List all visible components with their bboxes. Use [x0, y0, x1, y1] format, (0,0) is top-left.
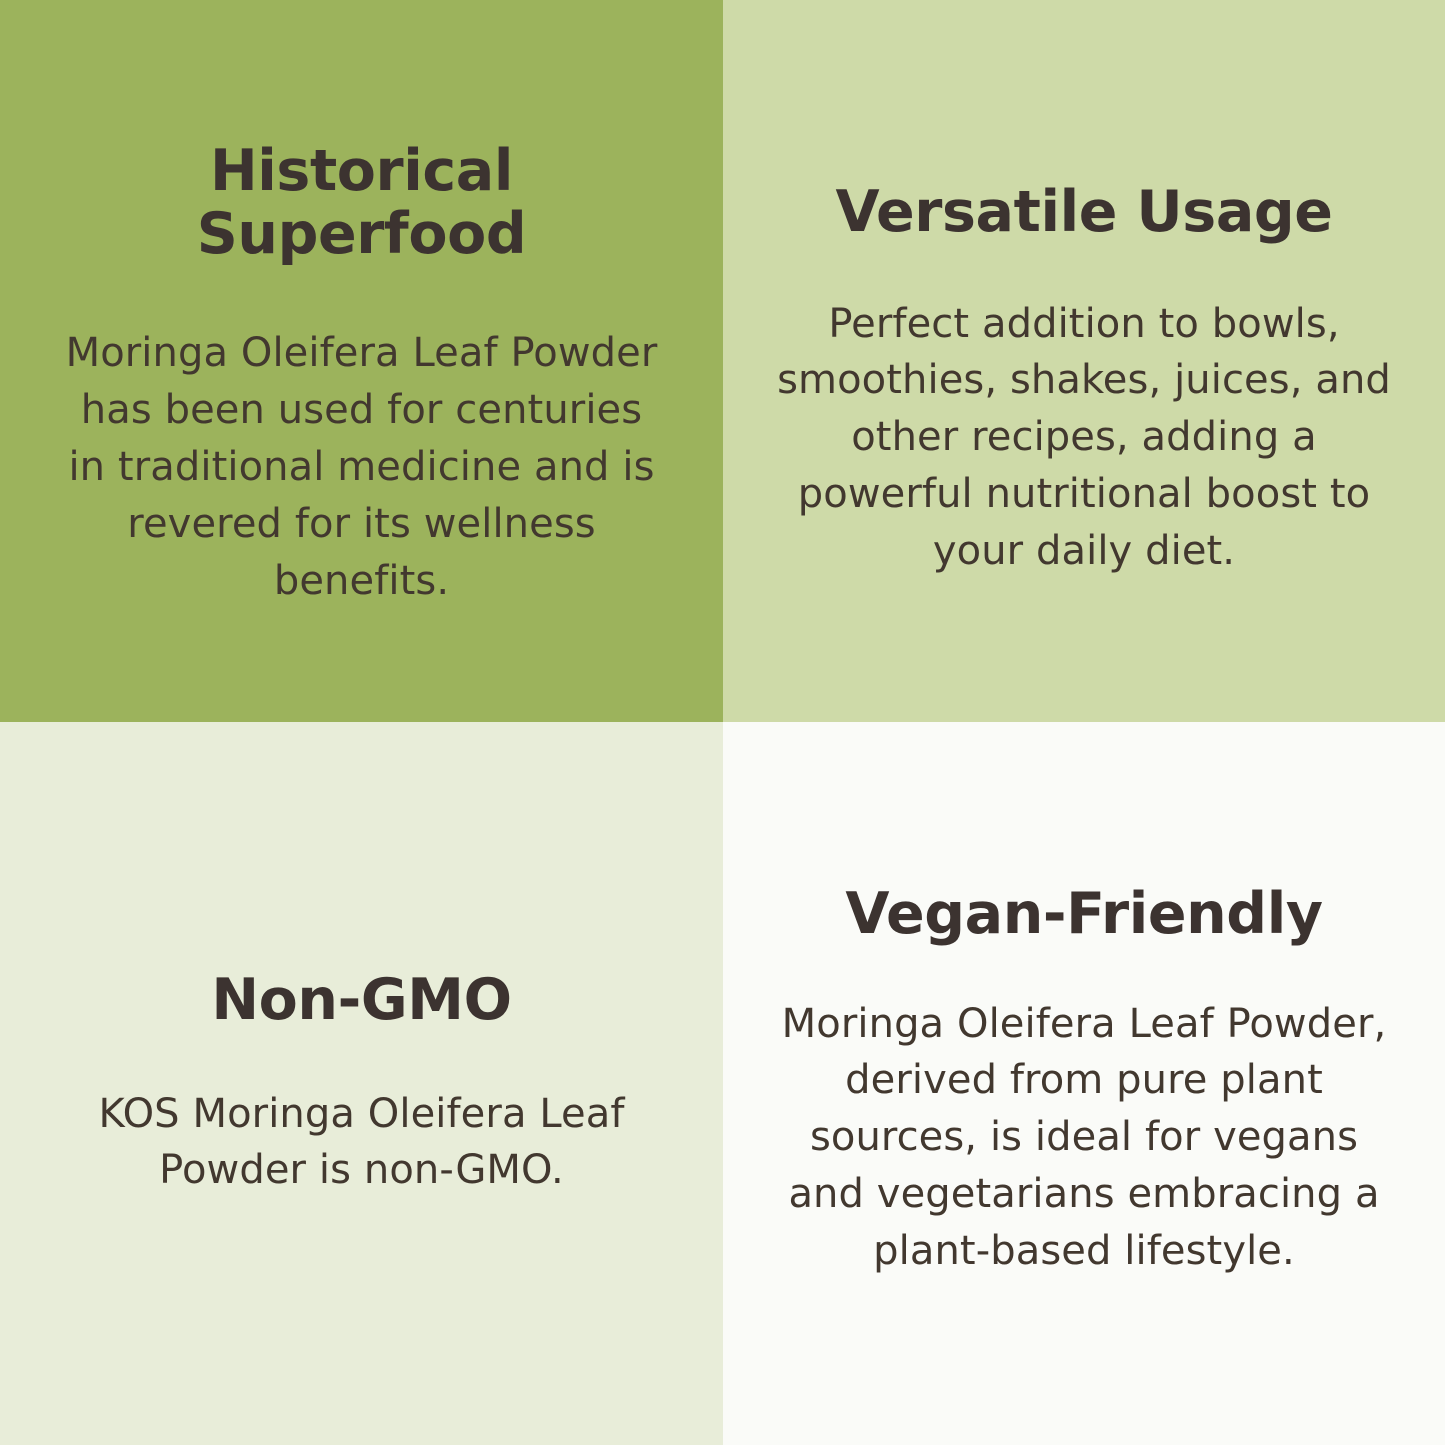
- benefit-title-vegan-friendly: Vegan-Friendly: [845, 883, 1322, 946]
- benefit-card-historical-superfood: Historical Superfood Moringa Oleifera Le…: [0, 0, 723, 722]
- benefit-body-non-gmo: KOS Moringa Oleifera Leaf Powder is non-…: [52, 1086, 672, 1200]
- benefit-body-vegan-friendly: Moringa Oleifera Leaf Powder, derived fr…: [772, 996, 1396, 1280]
- benefit-title-historical-superfood: Historical Superfood: [197, 140, 527, 265]
- benefit-body-historical-superfood: Moringa Oleifera Leaf Powder has been us…: [62, 325, 662, 609]
- benefit-card-vegan-friendly: Vegan-Friendly Moringa Oleifera Leaf Pow…: [723, 722, 1445, 1445]
- benefit-body-versatile-usage: Perfect addition to bowls, smoothies, sh…: [766, 296, 1402, 580]
- benefit-card-non-gmo: Non-GMO KOS Moringa Oleifera Leaf Powder…: [0, 722, 723, 1445]
- benefits-grid: Historical Superfood Moringa Oleifera Le…: [0, 0, 1445, 1445]
- benefit-card-versatile-usage: Versatile Usage Perfect addition to bowl…: [723, 0, 1445, 722]
- benefit-title-non-gmo: Non-GMO: [211, 969, 511, 1032]
- benefit-title-versatile-usage: Versatile Usage: [835, 181, 1332, 244]
